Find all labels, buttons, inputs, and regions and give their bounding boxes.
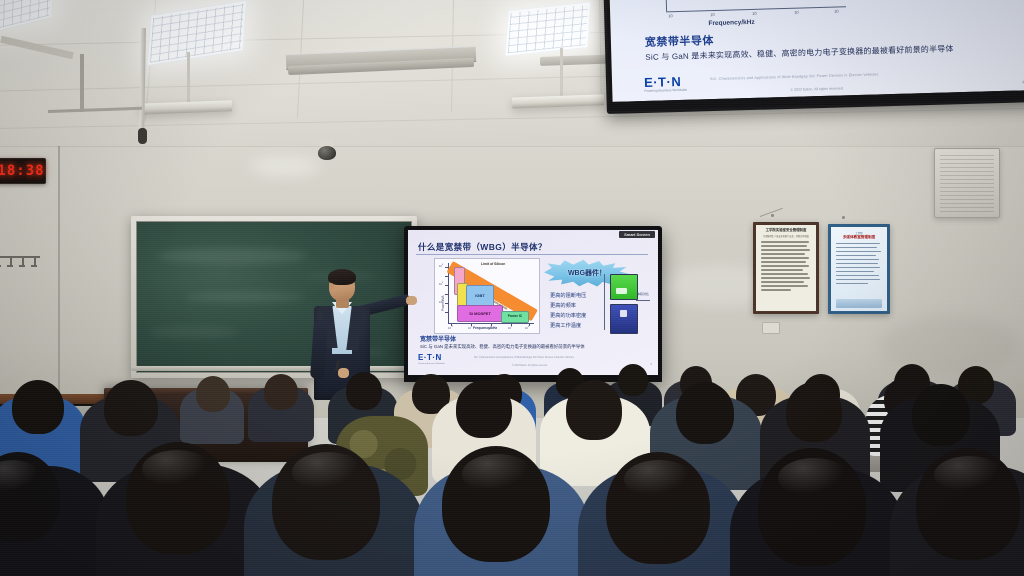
student-head [786, 382, 842, 442]
poster-right-paper: 工学院 多媒体教室管理制度 [831, 227, 887, 311]
wall-speaker-box [934, 148, 1000, 218]
poster-right-title: 多媒体教室管理制度 [836, 236, 882, 240]
ceiling-panel-light-2 [505, 1, 592, 56]
poster-left-subtitle: 为保障师生人身安全和财产安全，特制定本制度 [761, 234, 811, 238]
eaton-wordmark: E·T·N [644, 75, 687, 89]
chart-silicon-limit-label: Limit of Silicon [481, 262, 505, 266]
clock-time: 18:38 [0, 163, 45, 179]
main-slide-title: 什么是宽禁带（WBG）半导体？ [418, 241, 547, 253]
smartboard-badge-label: Smart Screen [624, 232, 650, 237]
comparison-block-old [610, 304, 638, 334]
wall-outlet-plate [762, 322, 780, 334]
poster-right-nail [842, 216, 845, 219]
student-head [618, 364, 648, 396]
poster-left: 工学院实验室安全管理制度 为保障师生人身安全和财产安全，特制定本制度 [753, 222, 819, 314]
top-display-screen: 10 10 10 10 10 10 Frequency/kHz 变频器 电力电子… [607, 0, 1024, 102]
wall-mounted-display-top[interactable]: 10 10 10 10 10 10 Frequency/kHz 变频器 电力电子… [601, 0, 1024, 114]
top-chart-xlabel: Frequency/kHz [708, 19, 754, 27]
poster-right-body-lines [836, 243, 882, 285]
student-head [456, 380, 512, 438]
benefit-line-2: 更高的频率 [550, 302, 576, 309]
presenter-hand-right [406, 296, 417, 305]
ceiling-fan-hub [138, 128, 147, 144]
poster-left-title: 工学院实验室安全管理制度 [761, 229, 811, 233]
benefit-line-4: 更高工作温度 [550, 322, 581, 329]
ceiling-fan-blade-2 [80, 54, 84, 112]
wall-digital-clock: 18:38 [0, 158, 46, 184]
light-hanger-rod-1 [187, 52, 190, 104]
poster-right: 工学院 多媒体教室管理制度 [828, 224, 890, 314]
poster-right-footer-image [836, 299, 882, 308]
main-slide-heading: 宽禁带半导体 [420, 334, 456, 343]
wall-hook-rack [0, 256, 42, 272]
power-frequency-chart: Limit of Silicon Power Conversion IGBT S… [434, 258, 540, 334]
comparison-caption: 体积对比 [637, 292, 649, 296]
benefit-line-1: 更高的阻断电压 [550, 292, 586, 299]
seated-student-audience [0, 356, 1024, 576]
smartboard-badge: Smart Screen [619, 231, 655, 238]
comparison-arrow-right [636, 300, 650, 301]
top-slide-copyright: © 2023 Eaton. All rights reserved. [790, 86, 844, 91]
eaton-tagline: Powering Business Worldwide [644, 89, 687, 93]
student-head [912, 384, 970, 446]
presenter-ear [329, 283, 334, 290]
student-head [264, 374, 298, 410]
chart-region-si-mosfet: Si MOSFET [457, 305, 503, 322]
student-head [676, 382, 734, 444]
ceiling-security-camera [316, 140, 338, 164]
top-slide-footer-note: SiC: Characteristics and Applications of… [710, 72, 878, 81]
top-slide-eaton-logo: E·T·N Powering Business Worldwide [644, 75, 687, 93]
chart-region-igbt: IGBT [466, 285, 494, 307]
top-slide-heading: 宽禁带半导体 [645, 32, 714, 50]
main-slide-body: SiC 与 GaN 是未来实现高效、稳健、高密的电力电子变换器的最被看好前景的半… [420, 344, 585, 350]
student-head [104, 380, 158, 436]
student-head [346, 372, 382, 410]
top-slide-chart: 10 10 10 10 10 10 Frequency/kHz [657, 0, 850, 24]
student-head [566, 380, 622, 440]
wbg-starburst-label: WBG器件！ [568, 268, 606, 278]
comparison-block-new [610, 274, 638, 300]
lecture-hall-photo: 18:38 10 10 10 10 10 10 Frequency/kHz [0, 0, 1024, 576]
poster-left-body-lines [761, 241, 811, 291]
chart-region-power-ic: Power IC [501, 311, 529, 323]
chart-xlabel: Frequency/kHz [473, 326, 497, 330]
benefit-line-3: 更高的功率密度 [550, 312, 586, 319]
light-hanger-rod-2 [560, 48, 563, 98]
student-head [12, 380, 64, 434]
main-slide-title-rule [416, 254, 648, 255]
student-head [196, 376, 230, 412]
comparison-dimension-line [604, 274, 605, 330]
speaker-grille [940, 154, 994, 212]
poster-left-paper: 工学院实验室安全管理制度 为保障师生人身安全和财产安全，特制定本制度 [756, 225, 816, 311]
poster-left-nail [771, 214, 774, 217]
